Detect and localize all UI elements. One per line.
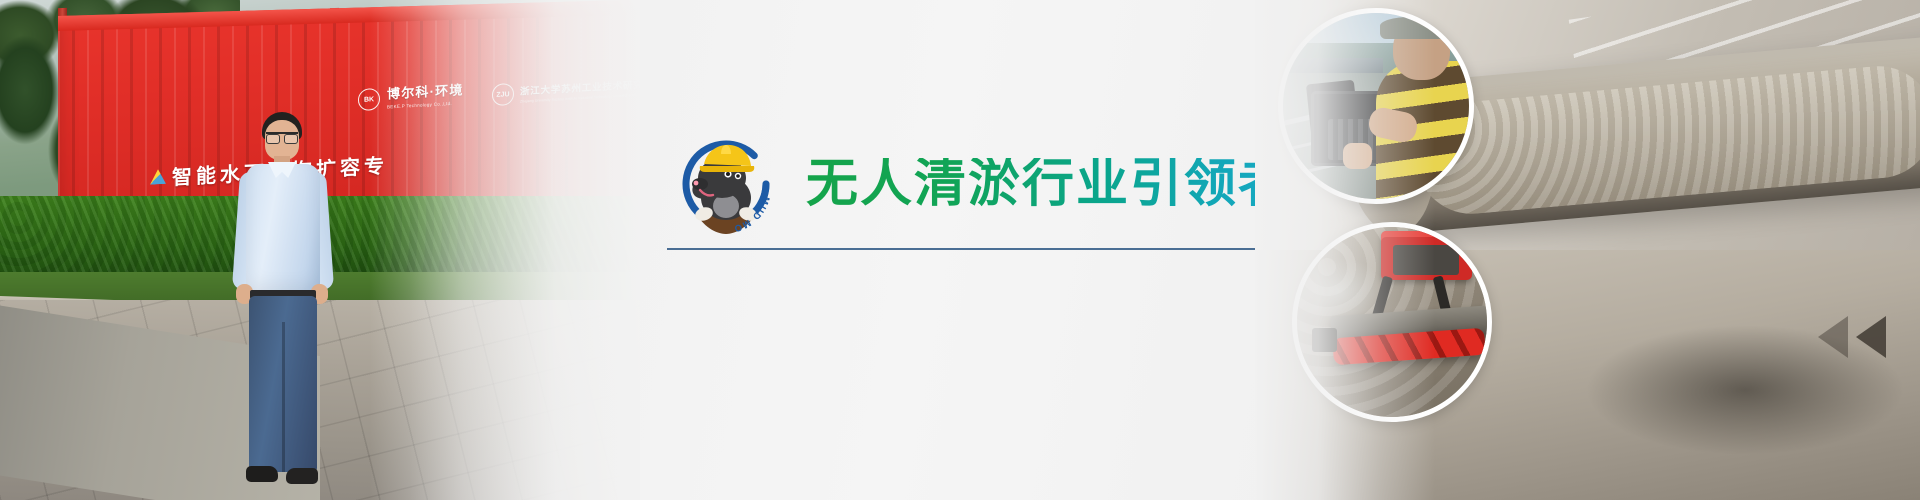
logo-and-headline: MUD MOLE 无人清淤行业引领者 (670, 128, 1292, 240)
right-panel-fade (1255, 0, 1435, 500)
chevron-arrow-back-icon (1818, 316, 1848, 358)
center-content: MUD MOLE 无人清淤行业引领者 (640, 0, 1280, 500)
left-hero-photo: BK 博尔科·环境 BEKE.P Technology Co.,Ltd. ZJU… (0, 0, 660, 500)
headline-divider (667, 248, 1265, 250)
chevron-arrow-icon (1856, 316, 1886, 358)
mud-mole-logo[interactable]: MUD MOLE (670, 128, 782, 240)
right-photo-collage (1255, 0, 1920, 500)
hero-banner: BK 博尔科·环境 BEKE.P Technology Co.,Ltd. ZJU… (0, 0, 1920, 500)
banner-headline: 无人清淤行业引领者 (806, 158, 1292, 210)
left-photo-fade-overlay (0, 0, 660, 500)
